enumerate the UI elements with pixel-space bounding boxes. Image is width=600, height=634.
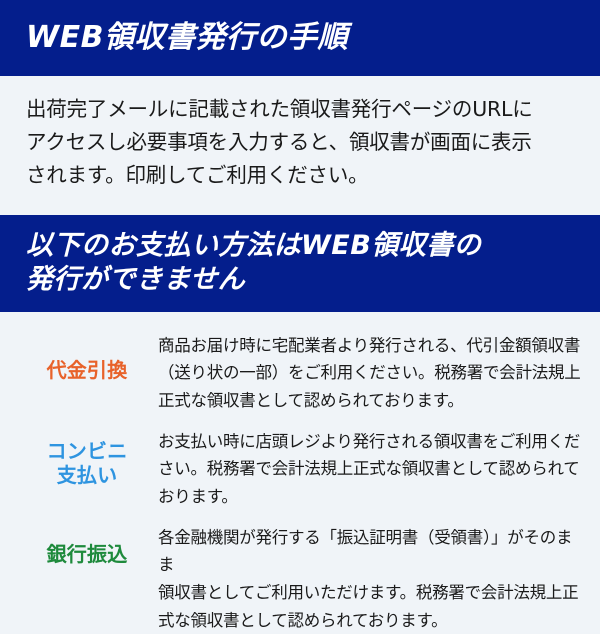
intro-section: 出荷完了メールに記載された領収書発行ページのURLに アクセスし必要事項を入力す… (0, 76, 600, 193)
notice-title: 以下のお支払い方法はWEB領収書の 発行ができません (26, 229, 481, 298)
receipt-info-page: WEB領収書発行の手順 出荷完了メールに記載された領収書発行ページのURLに ア… (0, 0, 600, 600)
payment-methods-list: 代金引換 商品お届け時に宅配業者より発行される、代引金額領収書 （送り状の一部）… (0, 312, 600, 634)
payment-method-description-conbini: お支払い時に店頭レジより発行される領収書をご利用くだ さい。税務署で会計法規上正… (148, 426, 582, 511)
payment-method-row-cod: 代金引換 商品お届け時に宅配業者より発行される、代引金額領収書 （送り状の一部）… (0, 330, 600, 416)
main-header-band: WEB領収書発行の手順 (0, 0, 600, 76)
payment-method-description-cod: 商品お届け時に宅配業者より発行される、代引金額領収書 （送り状の一部）をご利用く… (148, 330, 582, 415)
payment-method-label-conbini: コンビニ 支払い (26, 426, 148, 488)
notice-header-band: 以下のお支払い方法はWEB領収書の 発行ができません (0, 215, 600, 312)
payment-method-label-bank: 銀行振込 (26, 522, 148, 566)
intro-paragraph: 出荷完了メールに記載された領収書発行ページのURLに アクセスし必要事項を入力す… (26, 93, 578, 193)
page-title: WEB領収書発行の手順 (26, 19, 348, 57)
payment-method-row-bank: 銀行振込 各金融機関が発行する「振込証明書（受領書）」がそのまま 領収書としてご… (0, 522, 600, 634)
payment-method-label-cod: 代金引換 (26, 330, 148, 382)
payment-method-description-bank: 各金融機関が発行する「振込証明書（受領書）」がそのまま 領収書としてご利用いただ… (148, 522, 582, 634)
payment-method-row-conbini: コンビニ 支払い お支払い時に店頭レジより発行される領収書をご利用くだ さい。税… (0, 426, 600, 512)
